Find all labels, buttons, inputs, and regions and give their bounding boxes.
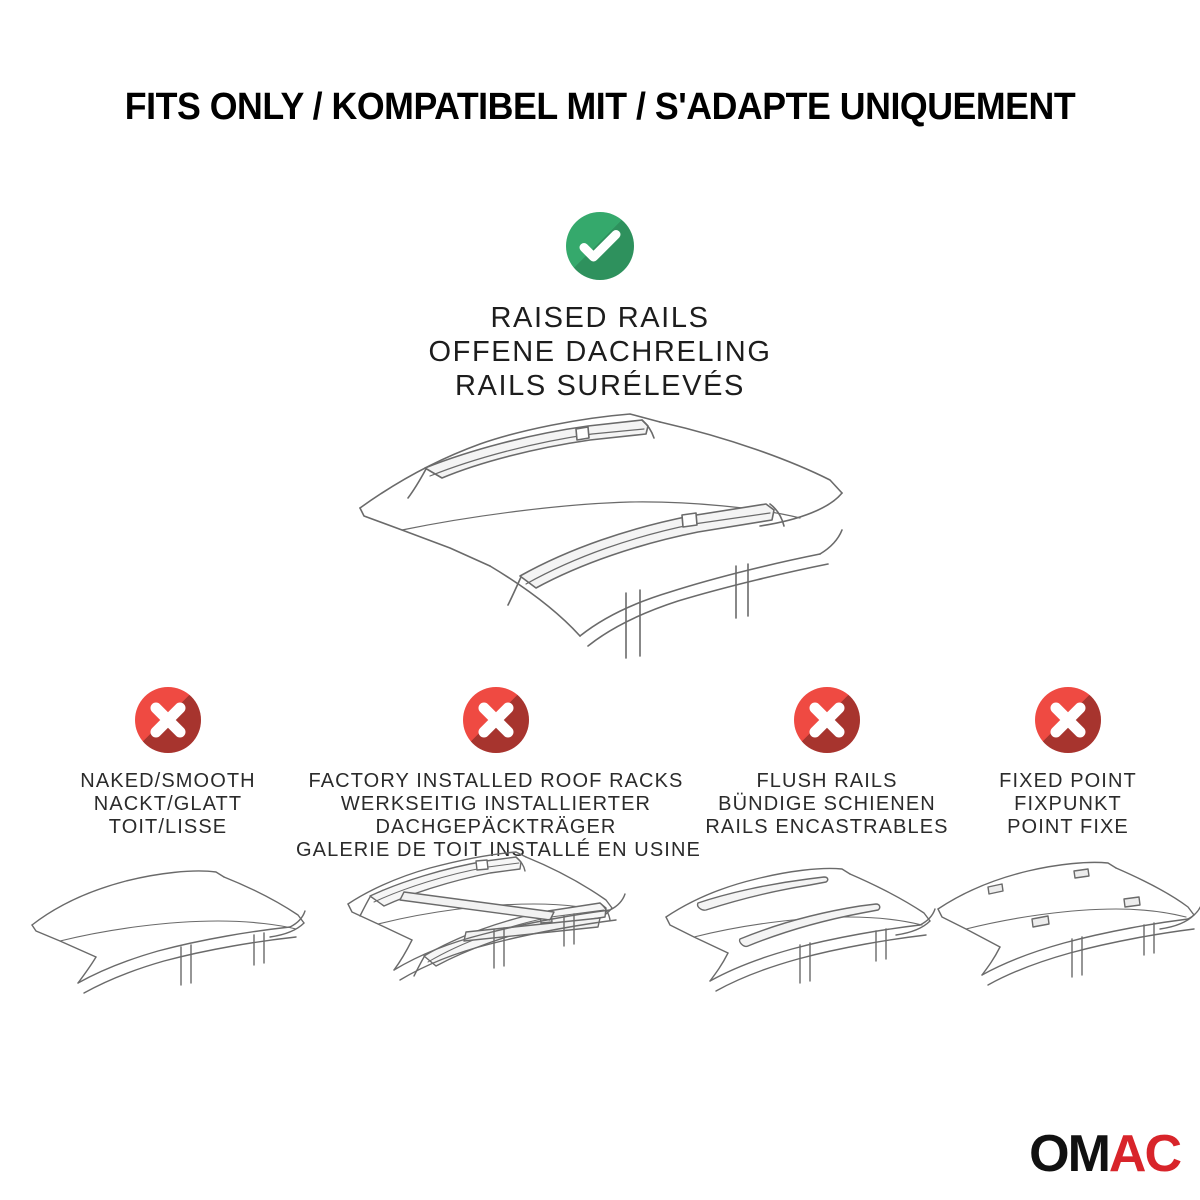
incompatible-item-flush-rails: FLUSH RAILS BÜNDIGE SCHIENEN RAILS ENCAS… [690, 687, 964, 839]
compatible-label: RAISED RAILS OFFENE DACHRELING RAILS SUR… [0, 301, 1200, 403]
compatible-label-line-de: OFFENE DACHRELING [0, 335, 1200, 369]
incompatible-item-factory-racks: FACTORY INSTALLED ROOF RACKS WERKSEITIG … [296, 687, 696, 862]
item-label-line-de: NACKT/GLATT [28, 793, 308, 816]
logo-text-om: OM [1029, 1125, 1109, 1183]
item-label-line-de-2: DACHGEPÄCKTRÄGER [296, 816, 696, 839]
car-roof-fixed-point-illustration [928, 855, 1200, 1030]
x-mark-glyph [1035, 687, 1101, 753]
x-circle-icon [135, 687, 201, 753]
item-label: NAKED/SMOOTH NACKT/GLATT TOIT/LISSE [28, 770, 308, 839]
check-mark-glyph [566, 212, 634, 280]
item-label-line-de-1: WERKSEITIG INSTALLIERTER [296, 793, 696, 816]
compatible-label-line-en: RAISED RAILS [0, 301, 1200, 335]
fitment-infographic: FITS ONLY / KOMPATIBEL MIT / S'ADAPTE UN… [0, 0, 1200, 1200]
compatible-section: RAISED RAILS OFFENE DACHRELING RAILS SUR… [0, 212, 1200, 403]
car-roof-naked-smooth-illustration [18, 855, 318, 1030]
item-label-line-fr: RAILS ENCASTRABLES [690, 816, 964, 839]
item-label-line-en: NAKED/SMOOTH [28, 770, 308, 793]
item-label-line-fr: TOIT/LISSE [28, 816, 308, 839]
logo-text-ac: AC [1109, 1125, 1180, 1183]
item-label: FLUSH RAILS BÜNDIGE SCHIENEN RAILS ENCAS… [690, 770, 964, 839]
incompatible-item-naked-smooth: NAKED/SMOOTH NACKT/GLATT TOIT/LISSE [28, 687, 308, 839]
incompatible-item-fixed-point: FIXED POINT FIXPUNKT POINT FIXE [952, 687, 1184, 839]
item-label-line-de: FIXPUNKT [952, 793, 1184, 816]
item-label-line-en: FACTORY INSTALLED ROOF RACKS [296, 770, 696, 793]
page-title: FITS ONLY / KOMPATIBEL MIT / S'ADAPTE UN… [36, 86, 1164, 129]
item-label-line-fr: POINT FIXE [952, 816, 1184, 839]
omac-logo: OMAC [1029, 1128, 1180, 1180]
car-roof-raised-rails-illustration [330, 398, 870, 668]
item-label-line-en: FIXED POINT [952, 770, 1184, 793]
x-mark-glyph [463, 687, 529, 753]
x-circle-icon [794, 687, 860, 753]
x-mark-glyph [794, 687, 860, 753]
item-label: FIXED POINT FIXPUNKT POINT FIXE [952, 770, 1184, 839]
car-roof-factory-racks-illustration [308, 840, 648, 1030]
x-circle-icon [463, 687, 529, 753]
item-label-line-de: BÜNDIGE SCHIENEN [690, 793, 964, 816]
car-roof-flush-rails-illustration [648, 855, 948, 1030]
x-mark-glyph [135, 687, 201, 753]
check-circle-icon [566, 212, 634, 280]
item-label-line-en: FLUSH RAILS [690, 770, 964, 793]
x-circle-icon [1035, 687, 1101, 753]
